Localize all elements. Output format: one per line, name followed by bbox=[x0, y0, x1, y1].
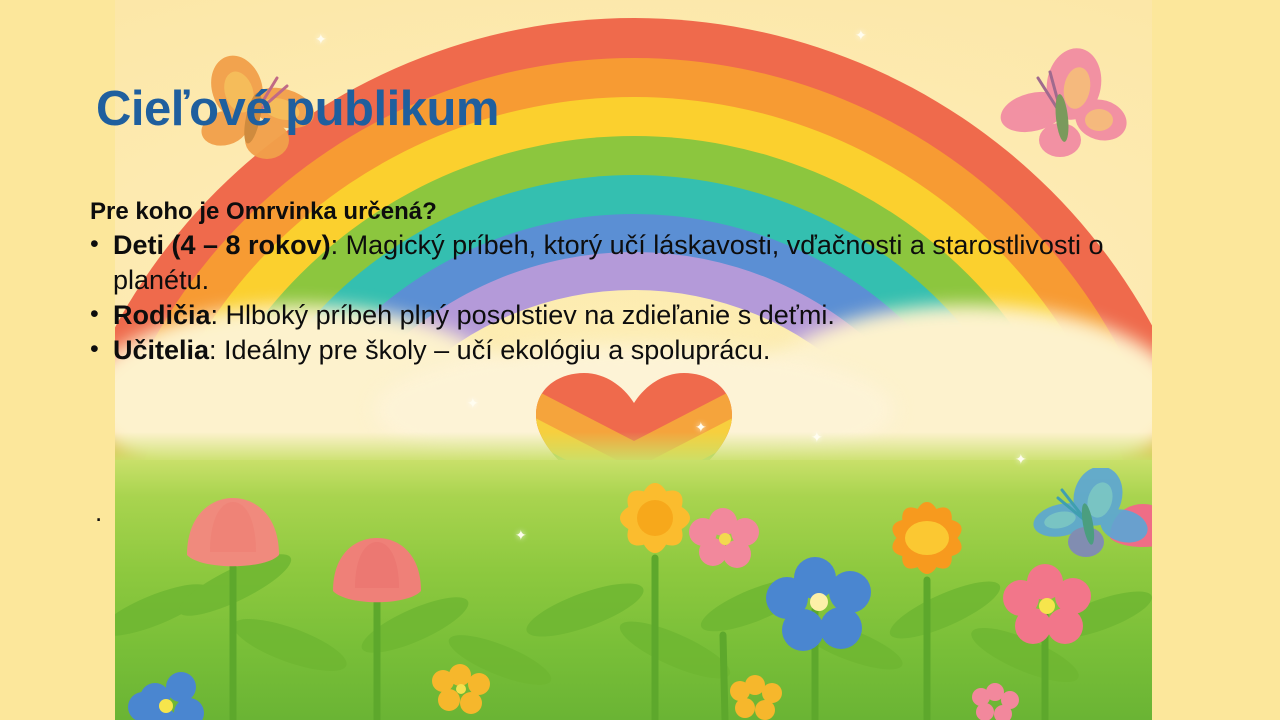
tulip-pink-left-2 bbox=[333, 538, 421, 602]
sparkle-icon: ✦ bbox=[855, 28, 867, 42]
sparkle-icon: ✦ bbox=[467, 396, 479, 410]
sparkle-icon: ✦ bbox=[1015, 452, 1027, 466]
flower-blue-left bbox=[128, 672, 204, 720]
list-item-text: Rodičia: Hlboký príbeh plný posolstiev n… bbox=[113, 298, 1200, 333]
meadow-flowers bbox=[115, 460, 1152, 720]
body-text-block: Pre koho je Omrvinka určená? • Deti (4 –… bbox=[90, 196, 1200, 369]
list-item: • Rodičia: Hlboký príbeh plný posolstiev… bbox=[90, 298, 1200, 333]
tulip-pink-left bbox=[187, 498, 279, 566]
sparkle-icon: ✦ bbox=[695, 420, 707, 434]
list-item: • Učitelia: Ideálny pre školy – učí ekol… bbox=[90, 333, 1200, 368]
bullet-marker: • bbox=[90, 298, 113, 331]
butterfly-blue-bottom-right bbox=[1032, 468, 1152, 563]
sparkle-icon: ✦ bbox=[811, 430, 823, 444]
flower-pink-right bbox=[1003, 564, 1091, 644]
flower-yellow-small-center bbox=[456, 684, 466, 694]
sparkle-icon: ✦ bbox=[315, 32, 327, 46]
flower-pink-tiny bbox=[972, 683, 1019, 720]
butterfly-pink-top-right bbox=[998, 48, 1128, 163]
list-item-label: Deti (4 – 8 rokov) bbox=[113, 230, 331, 260]
daisy-yellow-left bbox=[618, 481, 692, 555]
page-title: Cieľové publikum bbox=[96, 81, 499, 137]
list-item-desc: : Ideálny pre školy – učí ekológiu a spo… bbox=[209, 335, 770, 365]
list-item-label: Rodičia bbox=[113, 300, 211, 330]
lead-question: Pre koho je Omrvinka určená? bbox=[90, 196, 1200, 227]
daisy-orange-right bbox=[888, 499, 966, 576]
list-item-label: Učitelia bbox=[113, 335, 209, 365]
flower-blue-right bbox=[766, 557, 871, 651]
slide-canvas: ✦ ✦ ✦ ✦ ✦ ✦ ✦ Cieľové publikum Pre koho … bbox=[0, 0, 1280, 720]
bullet-marker: • bbox=[90, 228, 113, 261]
sparkle-icon: ✦ bbox=[515, 528, 527, 542]
list-item: • Deti (4 – 8 rokov): Magický príbeh, kt… bbox=[90, 228, 1200, 298]
list-item-text: Deti (4 – 8 rokov): Magický príbeh, ktor… bbox=[113, 228, 1200, 298]
flower-yellow-small-2 bbox=[730, 675, 782, 720]
stray-period: . bbox=[95, 497, 102, 528]
list-item-desc: : Hlboký príbeh plný posolstiev na zdieľ… bbox=[211, 300, 835, 330]
flower-pink-small bbox=[689, 508, 759, 568]
meadow-grass bbox=[115, 460, 1152, 720]
list-item-text: Učitelia: Ideálny pre školy – učí ekológ… bbox=[113, 333, 1200, 368]
bullet-marker: • bbox=[90, 333, 113, 366]
